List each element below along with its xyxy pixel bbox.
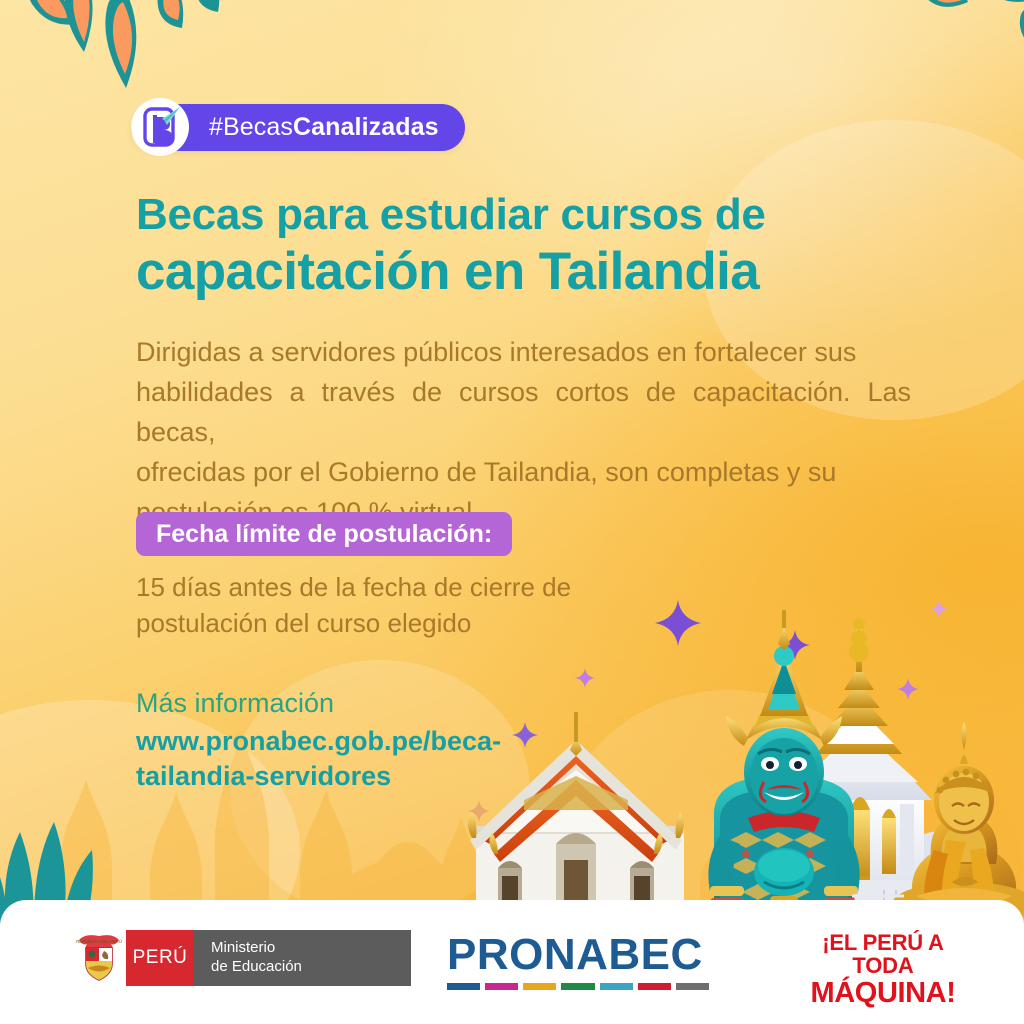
- pronabec-color-bars: [447, 983, 709, 990]
- slogan-line-2: MÁQUINA!: [790, 978, 976, 1008]
- ministry-label: Ministerio de Educación: [194, 930, 411, 986]
- minedu-logo: REPÚBLICA DEL PERÚ PERÚ Ministerio de Ed…: [72, 930, 411, 986]
- pronabec-wordmark: PRONABEC: [447, 933, 709, 977]
- poster-canvas: #BecasCanalizadas Becas para estudiar cu…: [0, 0, 1024, 1024]
- headline-line-2: capacitación en Tailandia: [136, 243, 896, 300]
- becas-logo: [131, 98, 189, 156]
- b-book-plane-icon: [140, 105, 180, 149]
- peru-label: PERÚ: [126, 930, 194, 986]
- peru-slogan: ¡EL PERÚ A TODA MÁQUINA!: [790, 932, 976, 1008]
- body-line-2: habilidades a través de cursos cortos de…: [136, 373, 911, 453]
- svg-text:REPÚBLICA DEL PERÚ: REPÚBLICA DEL PERÚ: [76, 939, 121, 944]
- body-line-1: Dirigidas a servidores públicos interesa…: [136, 333, 911, 373]
- thailand-photo-collage: [464, 604, 1024, 934]
- hashtag-bold-text: Canalizadas: [293, 113, 439, 141]
- body-line-3: ofrecidas por el Gobierno de Tailandia, …: [136, 453, 911, 493]
- peru-coat-of-arms-icon: REPÚBLICA DEL PERÚ: [72, 930, 126, 986]
- deadline-label: Fecha límite de postulación:: [156, 520, 492, 549]
- thai-temple-building: [468, 712, 684, 914]
- deadline-value-line-1: 15 días antes de la fecha de cierre de: [136, 570, 656, 606]
- more-info-label: Más información: [136, 688, 334, 719]
- footer-bar: REPÚBLICA DEL PERÚ PERÚ Ministerio de Ed…: [0, 900, 1024, 1024]
- color-bar: [600, 983, 633, 990]
- hashtag-badge: #BecasCanalizadas: [131, 98, 465, 156]
- deadline-label-pill: Fecha límite de postulación:: [136, 512, 512, 556]
- ministry-line-1: Ministerio: [211, 939, 411, 958]
- color-bar: [485, 983, 518, 990]
- hashtag-light-text: #Becas: [209, 113, 293, 141]
- color-bar: [676, 983, 709, 990]
- color-bar: [638, 983, 671, 990]
- slogan-line-1: ¡EL PERÚ A TODA: [790, 932, 976, 978]
- headline: Becas para estudiar cursos de capacitaci…: [136, 192, 896, 300]
- floral-ornament-top-left: [18, 0, 228, 100]
- ministry-line-2: de Educación: [211, 958, 411, 977]
- pronabec-logo: PRONABEC: [447, 933, 709, 990]
- headline-line-1: Becas para estudiar cursos de: [136, 192, 896, 239]
- color-bar: [447, 983, 480, 990]
- color-bar: [561, 983, 594, 990]
- floral-ornament-top-right: [912, 0, 1024, 74]
- color-bar: [523, 983, 556, 990]
- body-paragraph: Dirigidas a servidores públicos interesa…: [136, 333, 911, 533]
